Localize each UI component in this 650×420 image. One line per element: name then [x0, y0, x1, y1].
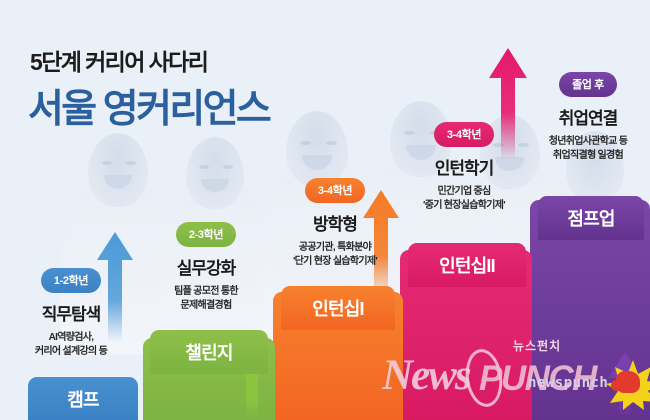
step-1-desc-line2: 커리어 설계강의 등	[8, 345, 134, 359]
step-2-desc-line1: 팀플 공모전 통한	[142, 285, 270, 299]
step-4-title: 인턴학기	[396, 154, 532, 179]
step-5-title: 취업연결	[526, 104, 650, 129]
bar-label-3: 인턴십I	[281, 286, 395, 330]
boxing-glove-icon	[616, 371, 640, 393]
step-1-title: 직무탐색	[8, 300, 134, 325]
step-1: 1-2학년 직무탐색 AI역량검사, 커리어 설계강의 등	[8, 268, 134, 358]
step-3-desc-line2: '단기 현장 실습학기제'	[268, 255, 402, 269]
watermark-korean-text: 뉴스펀치	[513, 337, 561, 354]
bar-label-1: 캠프	[28, 377, 138, 420]
step-1-badge: 1-2학년	[41, 268, 101, 293]
bar-label-2-text: 챌린지	[185, 339, 232, 365]
step-5: 졸업 후 취업연결 청년취업사관학교 등 취업직결형 일경험	[526, 72, 650, 162]
watermark-news-text: News	[382, 351, 470, 400]
step-2-badge: 2-3학년	[176, 222, 236, 247]
step-2-title: 실무강화	[142, 254, 270, 279]
step-2: 2-3학년 실무강화 팀플 공모전 통한 문제해결경험	[142, 222, 270, 312]
bar-label-3-text: 인턴십I	[312, 295, 363, 321]
step-1-desc-line1: AI역량검사,	[8, 331, 134, 345]
step-4-desc-line1: 민간기업 중심	[396, 185, 532, 199]
step-4-badge: 3-4학년	[434, 122, 494, 147]
bar-label-5: 점프업	[538, 196, 644, 240]
step-4-desc-line2: '중기 현장실습학기제'	[396, 199, 532, 213]
step-3-title: 방학형	[268, 210, 402, 235]
step-5-desc-line1: 청년취업사관학교 등	[526, 135, 650, 149]
page-title: 서울 영커리언스	[28, 78, 269, 134]
step-5-desc-line2: 취업직결형 일경험	[526, 149, 650, 163]
bar-label-1-text: 캠프	[67, 386, 99, 412]
step-3: 3-4학년 방학형 공공기관, 특화분야 '단기 현장 실습학기제'	[268, 178, 402, 268]
step-4: 3-4학년 인턴학기 민간기업 중심 '중기 현장실습학기제'	[396, 122, 532, 212]
bar-label-5-text: 점프업	[567, 205, 614, 231]
step-3-desc-line1: 공공기관, 특화분야	[268, 241, 402, 255]
step-5-badge: 졸업 후	[559, 72, 617, 97]
page-kicker: 5단계 커리어 사다리	[30, 43, 207, 77]
watermark-small-text: newspunch	[528, 375, 608, 391]
bar-label-4-text: 인턴십II	[439, 252, 495, 278]
bar-label-2: 챌린지	[150, 330, 268, 374]
bar-label-4: 인턴십II	[408, 243, 526, 287]
step-2-desc-line2: 문제해결경험	[142, 299, 270, 313]
step-3-badge: 3-4학년	[305, 178, 365, 203]
watermark-newspunch-small: newspunch	[528, 358, 650, 408]
infographic-canvas: 5단계 커리어 사다리 서울 영커리언스	[0, 0, 650, 420]
